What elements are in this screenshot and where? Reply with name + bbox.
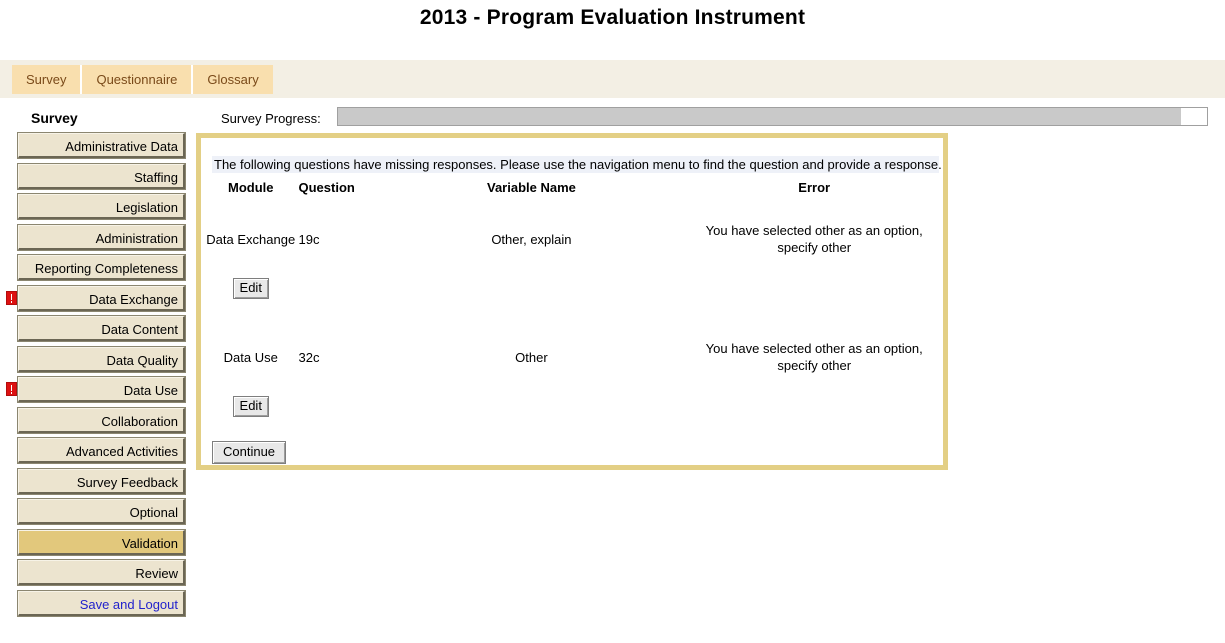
validation-message: The following questions have missing res… bbox=[212, 156, 939, 173]
cell-edit-action: Edit bbox=[205, 277, 296, 319]
sidebar-item-legislation[interactable]: Legislation bbox=[18, 194, 185, 219]
cell-spacer bbox=[374, 395, 688, 437]
sidebar-nav: Administrative Data Staffing Legislation… bbox=[0, 133, 190, 621]
sidebar-row: Staffing bbox=[0, 164, 190, 195]
cell-spacer bbox=[688, 277, 940, 319]
cell-module: Data Use bbox=[205, 319, 296, 395]
sidebar-row: Administrative Data bbox=[0, 133, 190, 164]
page-title: 2013 - Program Evaluation Instrument bbox=[0, 6, 1225, 30]
validation-table: Module Question Variable Name Error Data… bbox=[205, 180, 940, 437]
column-header-module: Module bbox=[205, 180, 296, 201]
sidebar-item-advanced-activities[interactable]: Advanced Activities bbox=[18, 438, 185, 463]
sidebar-item-collaboration[interactable]: Collaboration bbox=[18, 408, 185, 433]
cell-spacer bbox=[296, 395, 374, 437]
sidebar-row: Collaboration bbox=[0, 408, 190, 439]
column-header-error: Error bbox=[688, 180, 940, 201]
survey-progress-label: Survey Progress: bbox=[221, 111, 321, 126]
table-row: Data Use 32c Other You have selected oth… bbox=[205, 319, 940, 395]
sidebar-heading: Survey bbox=[31, 110, 78, 126]
tab-questionnaire[interactable]: Questionnaire bbox=[82, 65, 193, 94]
cell-question: 19c bbox=[296, 201, 374, 277]
sidebar-row: Reporting Completeness bbox=[0, 255, 190, 286]
sidebar-item-data-use[interactable]: Data Use bbox=[18, 377, 185, 402]
survey-progress-bar bbox=[337, 107, 1208, 126]
sidebar-item-administration[interactable]: Administration bbox=[18, 225, 185, 250]
cell-spacer bbox=[296, 277, 374, 319]
sidebar-item-save-and-logout[interactable]: Save and Logout bbox=[18, 591, 185, 616]
sidebar-row: Data Content bbox=[0, 316, 190, 347]
sidebar-row: Validation bbox=[0, 530, 190, 561]
tab-bar: Survey Questionnaire Glossary bbox=[0, 60, 1225, 98]
sidebar-row: Save and Logout bbox=[0, 591, 190, 622]
column-header-variable-name: Variable Name bbox=[374, 180, 688, 201]
cell-variable-name: Other bbox=[374, 319, 688, 395]
cell-error: You have selected other as an option, sp… bbox=[688, 319, 940, 395]
warning-icon[interactable] bbox=[6, 291, 17, 305]
cell-edit-action: Edit bbox=[205, 395, 296, 437]
table-row: Data Exchange 19c Other, explain You hav… bbox=[205, 201, 940, 277]
cell-question: 32c bbox=[296, 319, 374, 395]
continue-button[interactable]: Continue bbox=[212, 441, 286, 464]
app-window: 2013 - Program Evaluation Instrument Sur… bbox=[0, 0, 1225, 643]
sidebar-item-data-content[interactable]: Data Content bbox=[18, 316, 185, 341]
sidebar-row: Administration bbox=[0, 225, 190, 256]
cell-spacer bbox=[688, 395, 940, 437]
cell-module: Data Exchange bbox=[205, 201, 296, 277]
cell-variable-name: Other, explain bbox=[374, 201, 688, 277]
column-header-question: Question bbox=[296, 180, 374, 201]
sidebar-row: Review bbox=[0, 560, 190, 591]
sidebar-row: Data Use bbox=[0, 377, 190, 408]
sidebar-row: Legislation bbox=[0, 194, 190, 225]
sidebar-item-data-exchange[interactable]: Data Exchange bbox=[18, 286, 185, 311]
warning-icon[interactable] bbox=[6, 382, 17, 396]
sidebar-item-reporting-completeness[interactable]: Reporting Completeness bbox=[18, 255, 185, 280]
sidebar-item-data-quality[interactable]: Data Quality bbox=[18, 347, 185, 372]
sidebar-row: Data Exchange bbox=[0, 286, 190, 317]
sidebar-item-review[interactable]: Review bbox=[18, 560, 185, 585]
sidebar-item-staffing[interactable]: Staffing bbox=[18, 164, 185, 189]
tab-survey[interactable]: Survey bbox=[12, 65, 82, 94]
table-header-row: Module Question Variable Name Error bbox=[205, 180, 940, 201]
survey-progress-fill bbox=[338, 108, 1181, 125]
sidebar-row: Advanced Activities bbox=[0, 438, 190, 469]
table-row-actions: Edit bbox=[205, 277, 940, 319]
validation-panel: The following questions have missing res… bbox=[196, 133, 948, 470]
sidebar-item-administrative-data[interactable]: Administrative Data bbox=[18, 133, 185, 158]
sidebar-item-survey-feedback[interactable]: Survey Feedback bbox=[18, 469, 185, 494]
sidebar-row: Survey Feedback bbox=[0, 469, 190, 500]
edit-button[interactable]: Edit bbox=[233, 278, 269, 299]
tab-glossary[interactable]: Glossary bbox=[193, 65, 272, 94]
table-row-actions: Edit bbox=[205, 395, 940, 437]
tab-list: Survey Questionnaire Glossary bbox=[12, 65, 273, 94]
sidebar-row: Optional bbox=[0, 499, 190, 530]
cell-error: You have selected other as an option, sp… bbox=[688, 201, 940, 277]
cell-spacer bbox=[374, 277, 688, 319]
edit-button[interactable]: Edit bbox=[233, 396, 269, 417]
sidebar-item-validation[interactable]: Validation bbox=[18, 530, 185, 555]
sidebar-item-optional[interactable]: Optional bbox=[18, 499, 185, 524]
sidebar-row: Data Quality bbox=[0, 347, 190, 378]
